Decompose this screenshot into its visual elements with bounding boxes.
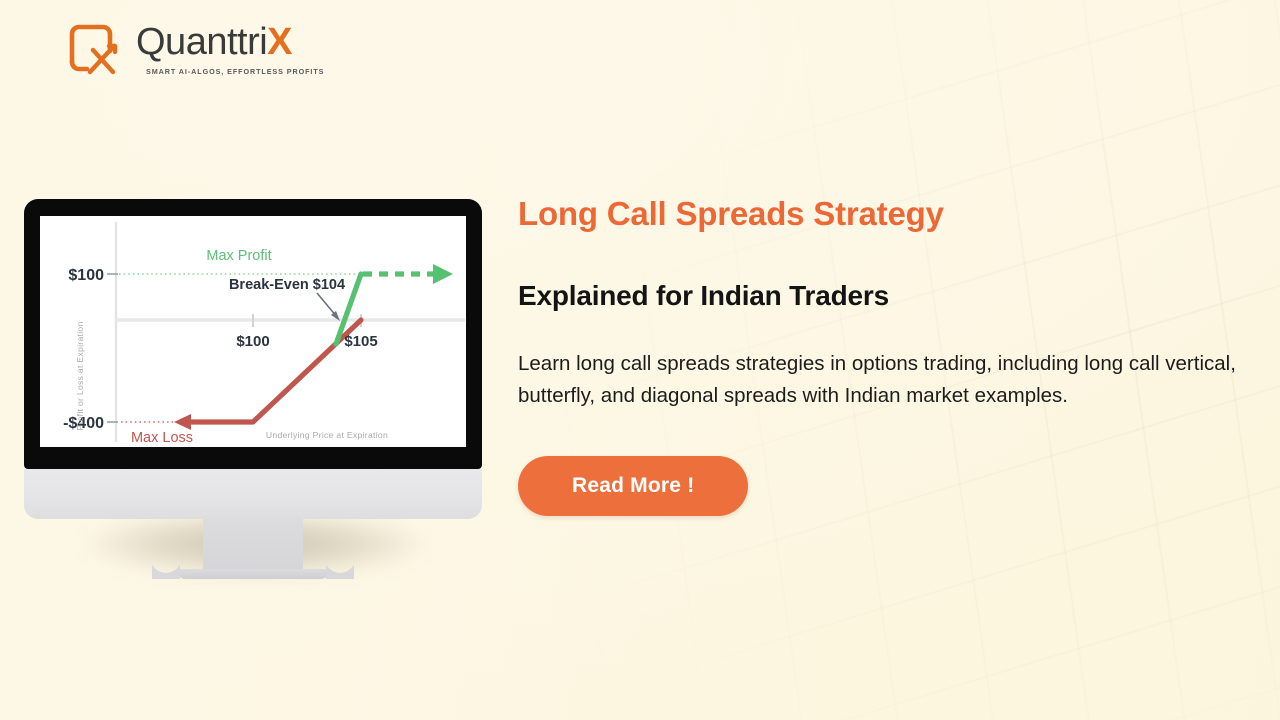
chart-x-axis-title: Underlying Price at Expiration: [266, 430, 388, 440]
payoff-chart: $100 -$400 $100 $105 Max Profit Break-Ev…: [40, 216, 466, 447]
max-profit-label: Max Profit: [206, 248, 271, 264]
page-title: Long Call Spreads Strategy: [518, 196, 1248, 232]
chart-y-axis-title: Profit or Loss at Expiration: [75, 321, 85, 430]
profit-cap-arrowhead: [433, 264, 453, 284]
brand-wordmark: QuanttriX: [136, 23, 324, 61]
loss-leg-arrowhead: [174, 414, 191, 430]
max-loss-label: Max Loss: [131, 430, 193, 446]
brand-name-prefix: Quanttri: [136, 21, 267, 63]
page-description: Learn long call spreads strategies in op…: [518, 348, 1240, 412]
break-even-label: Break-Even $104: [229, 277, 345, 293]
brand-logo[interactable]: QuanttriX SMART AI-ALGOS, EFFORTLESS PRO…: [60, 18, 324, 80]
monitor-stand-neck: [203, 519, 303, 569]
monitor-stand-foot: [178, 569, 328, 579]
content-column: Long Call Spreads Strategy Explained for…: [518, 196, 1248, 516]
read-more-button[interactable]: Read More !: [518, 456, 748, 516]
monitor-screen: $100 -$400 $100 $105 Max Profit Break-Ev…: [40, 216, 466, 447]
quanttrix-logo-icon: [60, 18, 122, 80]
brand-name-highlight: X: [267, 21, 292, 63]
chart-ytick-label-100: $100: [68, 267, 104, 284]
loss-leg-line: [189, 320, 361, 422]
monitor-chin: [24, 469, 482, 519]
monitor-bezel: $100 -$400 $100 $105 Max Profit Break-Ev…: [24, 199, 482, 469]
monitor-mockup: $100 -$400 $100 $105 Max Profit Break-Ev…: [24, 199, 482, 579]
chart-xtick-label-105: $105: [344, 333, 377, 350]
page-subtitle: Explained for Indian Traders: [518, 280, 1248, 312]
brand-tagline: SMART AI-ALGOS, EFFORTLESS PROFITS: [146, 67, 324, 76]
brand-text-block: QuanttriX SMART AI-ALGOS, EFFORTLESS PRO…: [136, 23, 324, 76]
chart-xtick-label-100: $100: [236, 333, 269, 350]
